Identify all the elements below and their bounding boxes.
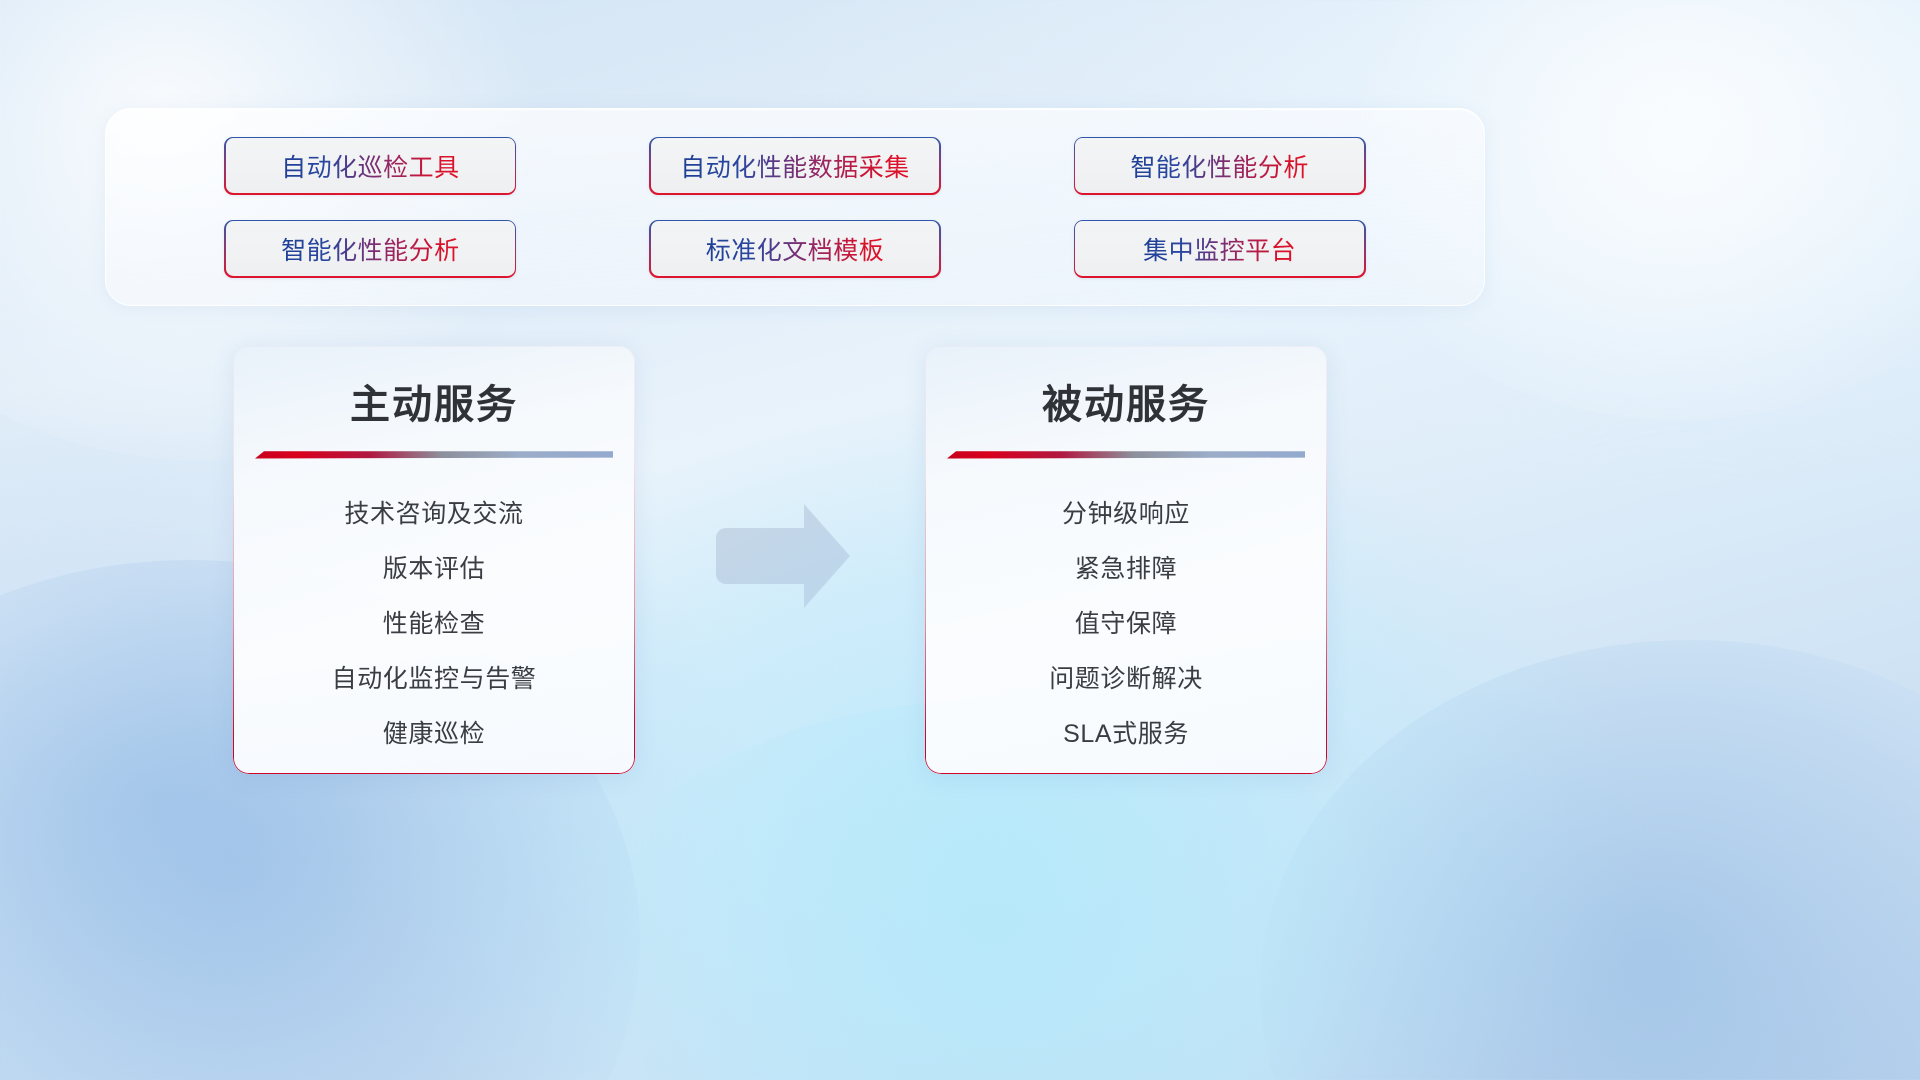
tool-pill-label: 智能化性能分析 xyxy=(281,231,460,267)
tools-panel: 自动化巡检工具 自动化性能数据采集 智能化性能分析 智能化性能分析 xyxy=(105,108,1485,306)
card-title: 被动服务 xyxy=(925,346,1327,430)
tool-pill-body: 自动化性能数据采集 xyxy=(651,138,940,193)
card-list: 分钟级响应 紧急排障 值守保障 问题诊断解决 SLA式服务 xyxy=(925,494,1327,750)
list-item: 版本评估 xyxy=(383,549,485,585)
list-item: 性能检查 xyxy=(383,604,485,640)
tool-pill-smart-perf-analysis[interactable]: 智能化性能分析 xyxy=(1074,137,1366,195)
tool-pill-body: 自动化巡检工具 xyxy=(226,138,515,193)
tool-pill-body: 标准化文档模板 xyxy=(651,221,940,276)
card-list: 技术咨询及交流 版本评估 性能检查 自动化监控与告警 健康巡检 xyxy=(233,494,635,750)
tool-pill-label: 集中监控平台 xyxy=(1143,231,1296,267)
list-item: 紧急排障 xyxy=(1075,549,1177,585)
tools-grid: 自动化巡检工具 自动化性能数据采集 智能化性能分析 智能化性能分析 xyxy=(106,109,1484,305)
list-item: SLA式服务 xyxy=(1063,714,1189,750)
tool-pill-central-monitoring[interactable]: 集中监控平台 xyxy=(1074,220,1366,278)
list-item: 值守保障 xyxy=(1075,604,1177,640)
tool-pill-label: 标准化文档模板 xyxy=(706,231,885,267)
list-item: 技术咨询及交流 xyxy=(344,494,523,530)
card-reactive-service[interactable]: 被动服务 分钟级响应 紧急排障 值守保障 xyxy=(925,346,1327,774)
list-item: 问题诊断解决 xyxy=(1049,659,1203,695)
tool-pill-label: 智能化性能分析 xyxy=(1130,148,1309,184)
list-item: 自动化监控与告警 xyxy=(332,659,537,695)
card-proactive-service[interactable]: 主动服务 技术咨询及交流 版本评估 性能检查 xyxy=(233,346,635,774)
tool-pill-body: 智能化性能分析 xyxy=(1075,138,1364,193)
tool-pill-perf-data-collection[interactable]: 自动化性能数据采集 xyxy=(649,137,941,195)
right-arrow-icon xyxy=(716,500,854,612)
tool-pill-smart-perf-analysis-2[interactable]: 智能化性能分析 xyxy=(224,220,516,278)
tool-pill-doc-template[interactable]: 标准化文档模板 xyxy=(649,220,941,278)
list-item: 健康巡检 xyxy=(383,714,485,750)
card-divider xyxy=(255,448,613,470)
diagram-stage: 自动化巡检工具 自动化性能数据采集 智能化性能分析 智能化性能分析 xyxy=(0,0,1920,1080)
tool-pill-label: 自动化巡检工具 xyxy=(281,148,460,184)
card-divider xyxy=(947,448,1305,470)
card-title: 主动服务 xyxy=(233,346,635,430)
tool-pill-body: 集中监控平台 xyxy=(1075,221,1364,276)
tool-pill-label: 自动化性能数据采集 xyxy=(680,148,910,184)
tool-pill-automated-inspection[interactable]: 自动化巡检工具 xyxy=(224,137,516,195)
list-item: 分钟级响应 xyxy=(1062,494,1190,530)
tool-pill-body: 智能化性能分析 xyxy=(226,221,515,276)
